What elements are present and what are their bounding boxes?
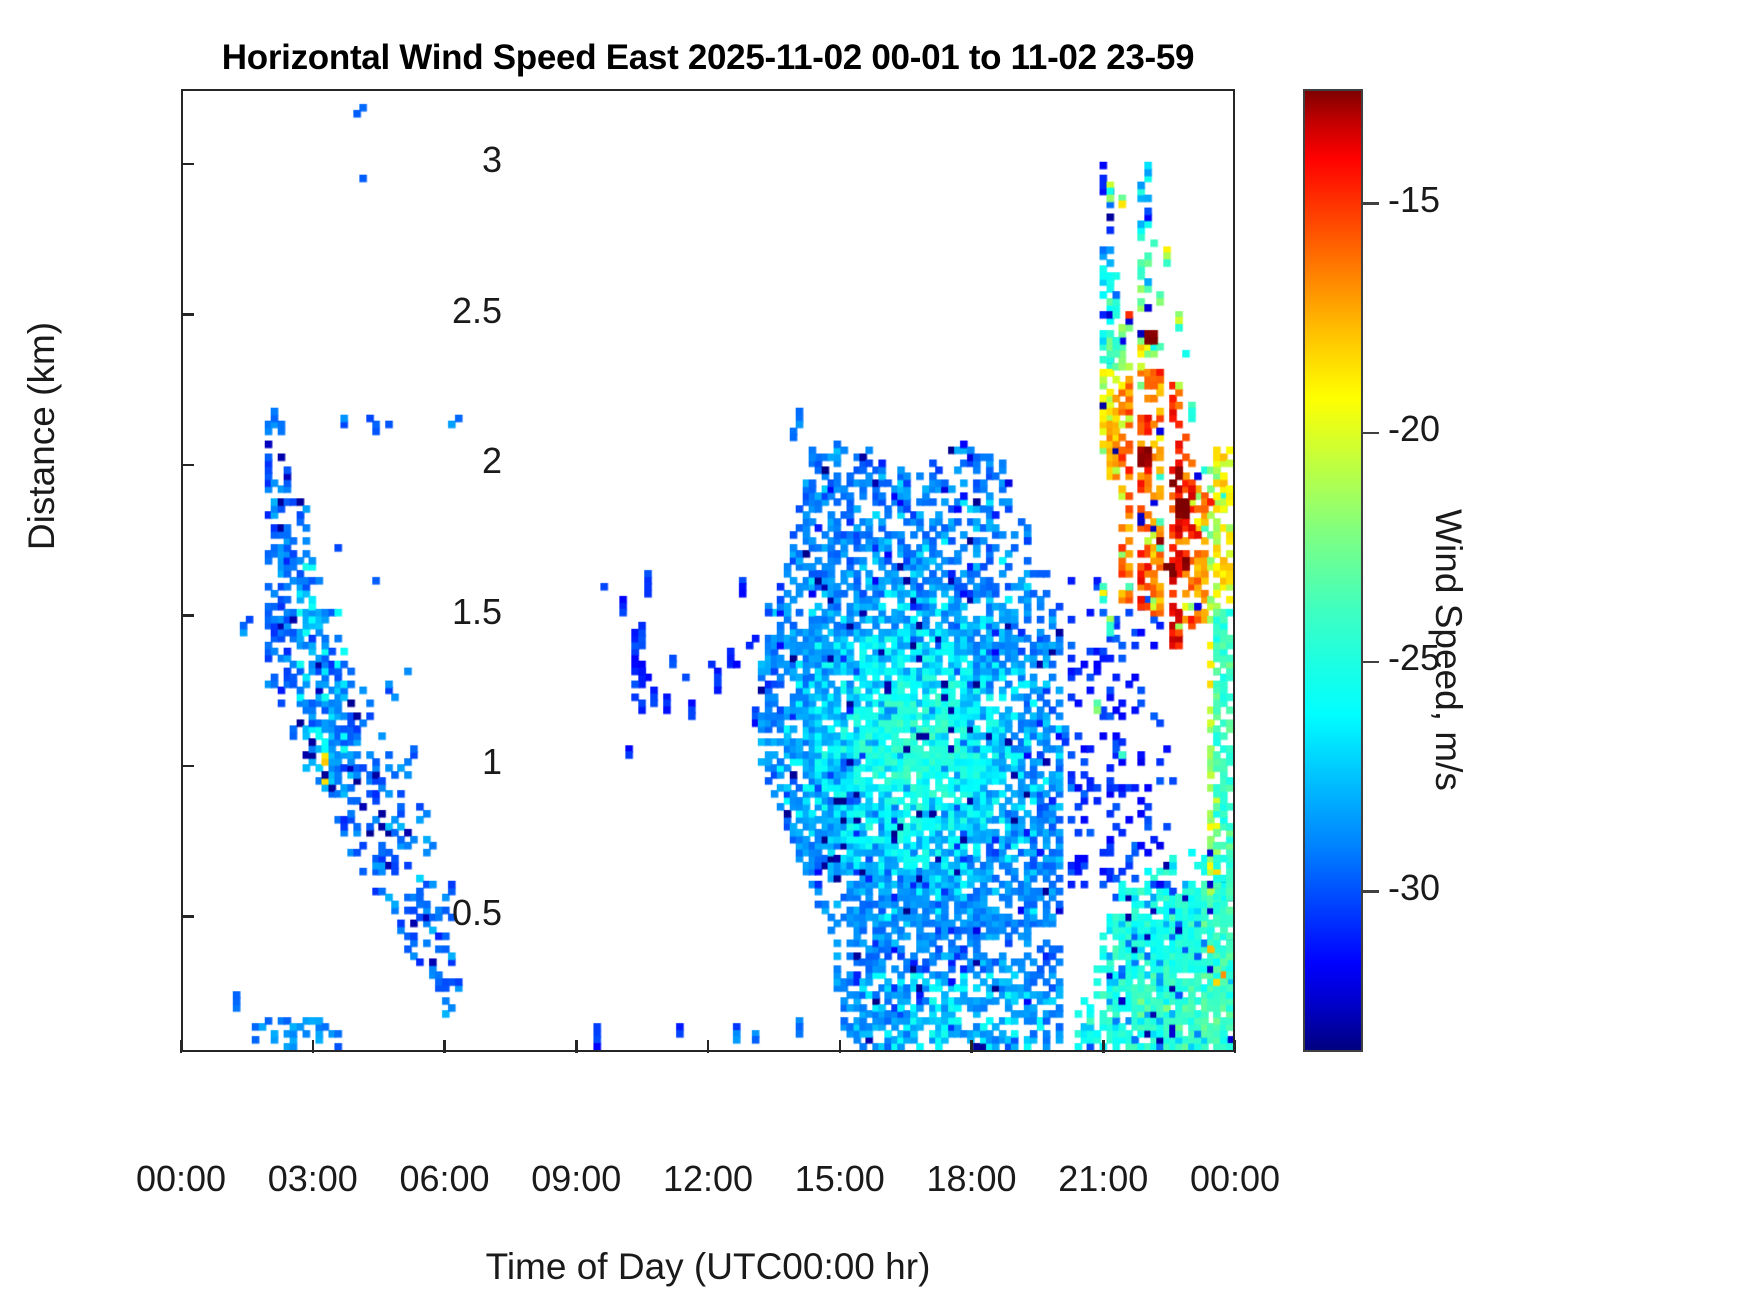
colorbar-tick-mark — [1363, 661, 1379, 664]
x-tick-mark — [1234, 1040, 1237, 1053]
x-tick-mark — [180, 1040, 183, 1053]
x-axis-label: Time of Day (UTC00:00 hr) — [181, 1246, 1235, 1288]
colorbar-tick-mark — [1363, 432, 1379, 435]
y-tick-label: 0.5 — [352, 892, 502, 934]
y-tick-mark — [181, 163, 194, 166]
colorbar-tick-mark — [1363, 890, 1379, 893]
y-axis-label: Distance (km) — [21, 226, 63, 646]
y-tick-mark — [181, 915, 194, 918]
x-tick-label: 00:00 — [1135, 1158, 1335, 1200]
x-tick-mark — [575, 1040, 578, 1053]
y-tick-label: 2 — [352, 440, 502, 482]
y-tick-mark — [181, 765, 194, 768]
figure-canvas: Horizontal Wind Speed East 2025-11-02 00… — [0, 0, 1750, 1313]
colorbar-tick-mark — [1363, 202, 1379, 205]
x-tick-mark — [1102, 1040, 1105, 1053]
wind-speed-heatmap — [183, 91, 1233, 1050]
x-tick-mark — [970, 1040, 973, 1053]
colorbar-tick-label: -30 — [1388, 867, 1558, 909]
y-tick-label: 3 — [352, 139, 502, 181]
y-tick-label: 2.5 — [352, 290, 502, 332]
y-tick-mark — [181, 313, 194, 316]
colorbar-tick-label: -25 — [1388, 637, 1558, 679]
x-tick-mark — [312, 1040, 315, 1053]
colorbar — [1303, 89, 1363, 1052]
y-tick-label: 1 — [352, 741, 502, 783]
y-tick-mark — [181, 614, 194, 617]
x-tick-mark — [707, 1040, 710, 1053]
colorbar-tick-label: -20 — [1388, 408, 1558, 450]
y-tick-mark — [181, 464, 194, 467]
colorbar-tick-label: -15 — [1388, 179, 1558, 221]
x-tick-mark — [839, 1040, 842, 1053]
y-tick-label: 1.5 — [352, 591, 502, 633]
x-tick-mark — [443, 1040, 446, 1053]
plot-axes — [181, 89, 1235, 1052]
chart-title: Horizontal Wind Speed East 2025-11-02 00… — [181, 38, 1235, 78]
